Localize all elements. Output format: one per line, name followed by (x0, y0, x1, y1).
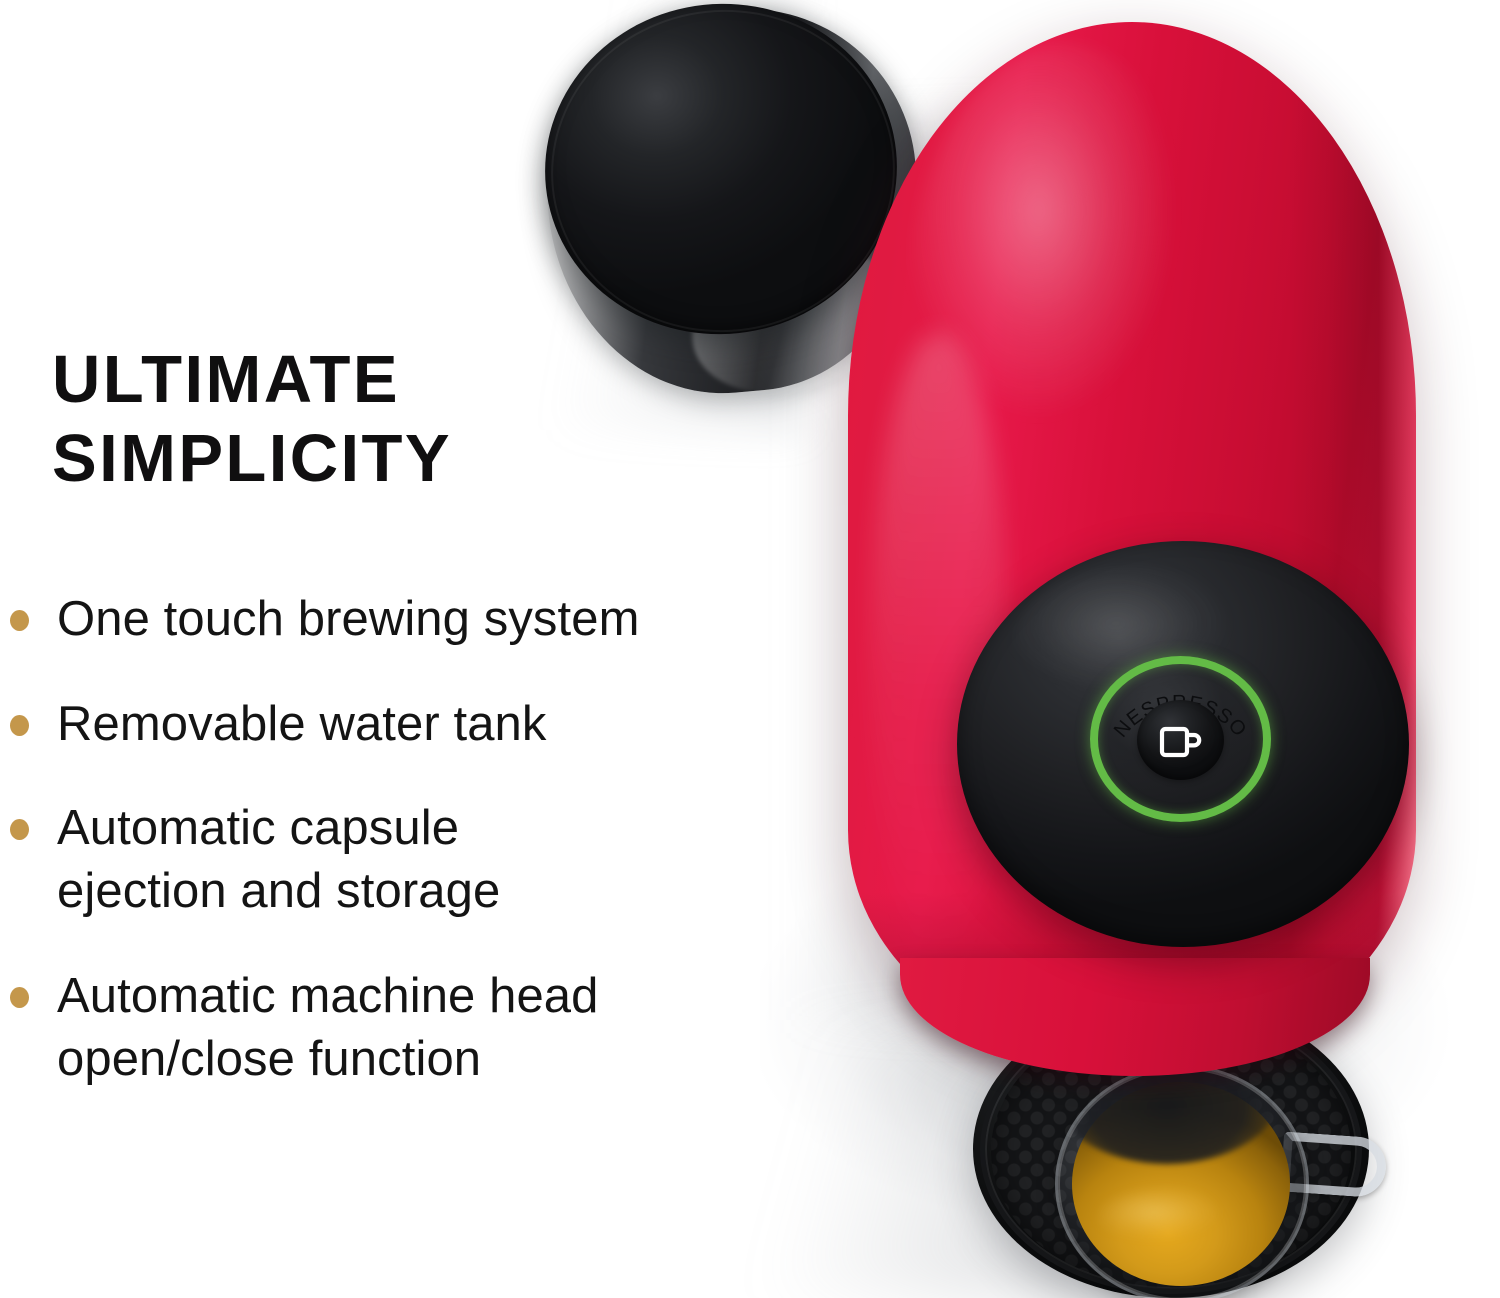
crema-sheen (1098, 1188, 1238, 1248)
espresso-cup (1058, 1068, 1306, 1298)
coffee-cup-icon[interactable] (1157, 723, 1205, 761)
product-marketing-image: ULTIMATE SIMPLICITY One touch brewing sy… (0, 0, 1500, 1298)
coffee-machine-photo: NESPRESSO (0, 0, 1500, 1298)
